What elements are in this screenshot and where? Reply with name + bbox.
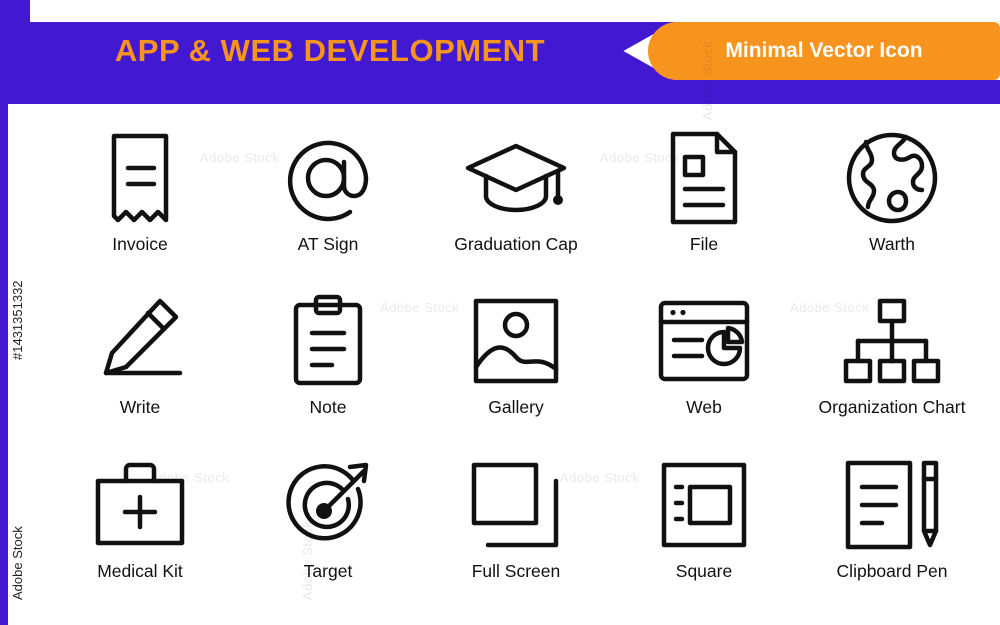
target-arrow-icon (273, 455, 383, 555)
icon-label: Gallery (488, 397, 543, 418)
icon-label: Warth (869, 234, 915, 255)
icon-label: Target (304, 561, 353, 582)
icon-cell[interactable]: AT Sign (234, 120, 422, 283)
icon-label: Square (676, 561, 732, 582)
icon-cell[interactable]: Invoice (46, 120, 234, 283)
icon-cell[interactable]: Clipboard Pen (798, 447, 986, 610)
stock-id-text: #1431351332 (10, 280, 25, 360)
icon-cell[interactable]: Graduation Cap (422, 120, 610, 283)
icon-label: Organization Chart (819, 397, 966, 418)
medical-kit-icon (85, 455, 195, 555)
header-banner: APP & WEB DEVELOPMENT Minimal Vector Ico… (0, 22, 1000, 80)
file-icon (649, 128, 759, 228)
icon-label: Web (686, 397, 722, 418)
icon-grid: Invoice AT Sign Graduation Cap (46, 120, 986, 610)
icon-cell[interactable]: File (610, 120, 798, 283)
header-subtitle: Minimal Vector Icon (725, 39, 922, 63)
icon-cell[interactable]: Full Screen (422, 447, 610, 610)
icon-cell[interactable]: Note (234, 283, 422, 446)
stock-credit-text: Adobe Stock (10, 526, 25, 600)
icon-label: File (690, 234, 718, 255)
icon-cell[interactable]: Gallery (422, 283, 610, 446)
square-stack-icon (649, 455, 759, 555)
icon-cell[interactable]: Organization Chart (798, 283, 986, 446)
icon-cell[interactable]: Medical Kit (46, 447, 234, 610)
icon-cell[interactable]: Warth (798, 120, 986, 283)
note-clipboard-icon (273, 291, 383, 391)
icon-label: Graduation Cap (454, 234, 578, 255)
gallery-image-icon (461, 291, 571, 391)
icon-cell[interactable]: Web (610, 283, 798, 446)
write-pencil-icon (85, 291, 195, 391)
icon-label: AT Sign (298, 234, 359, 255)
header-purple-rule (0, 80, 1000, 104)
page-title: APP & WEB DEVELOPMENT (30, 22, 630, 80)
at-sign-icon (273, 128, 383, 228)
icon-cell[interactable]: Target (234, 447, 422, 610)
graduation-cap-icon (461, 128, 571, 228)
invoice-icon (85, 128, 195, 228)
icon-label: Clipboard Pen (837, 561, 948, 582)
icon-label: Medical Kit (97, 561, 183, 582)
icon-cell[interactable]: Write (46, 283, 234, 446)
icon-label: Note (310, 397, 347, 418)
clipboard-pen-icon (837, 455, 947, 555)
web-browser-icon (649, 291, 759, 391)
organization-chart-icon (837, 291, 947, 391)
header-orange-badge: Minimal Vector Icon (648, 22, 1000, 80)
icon-label: Full Screen (472, 561, 561, 582)
icon-cell[interactable]: Square (610, 447, 798, 610)
icon-label: Write (120, 397, 161, 418)
full-screen-icon (461, 455, 571, 555)
icon-label: Invoice (112, 234, 167, 255)
globe-icon (837, 128, 947, 228)
